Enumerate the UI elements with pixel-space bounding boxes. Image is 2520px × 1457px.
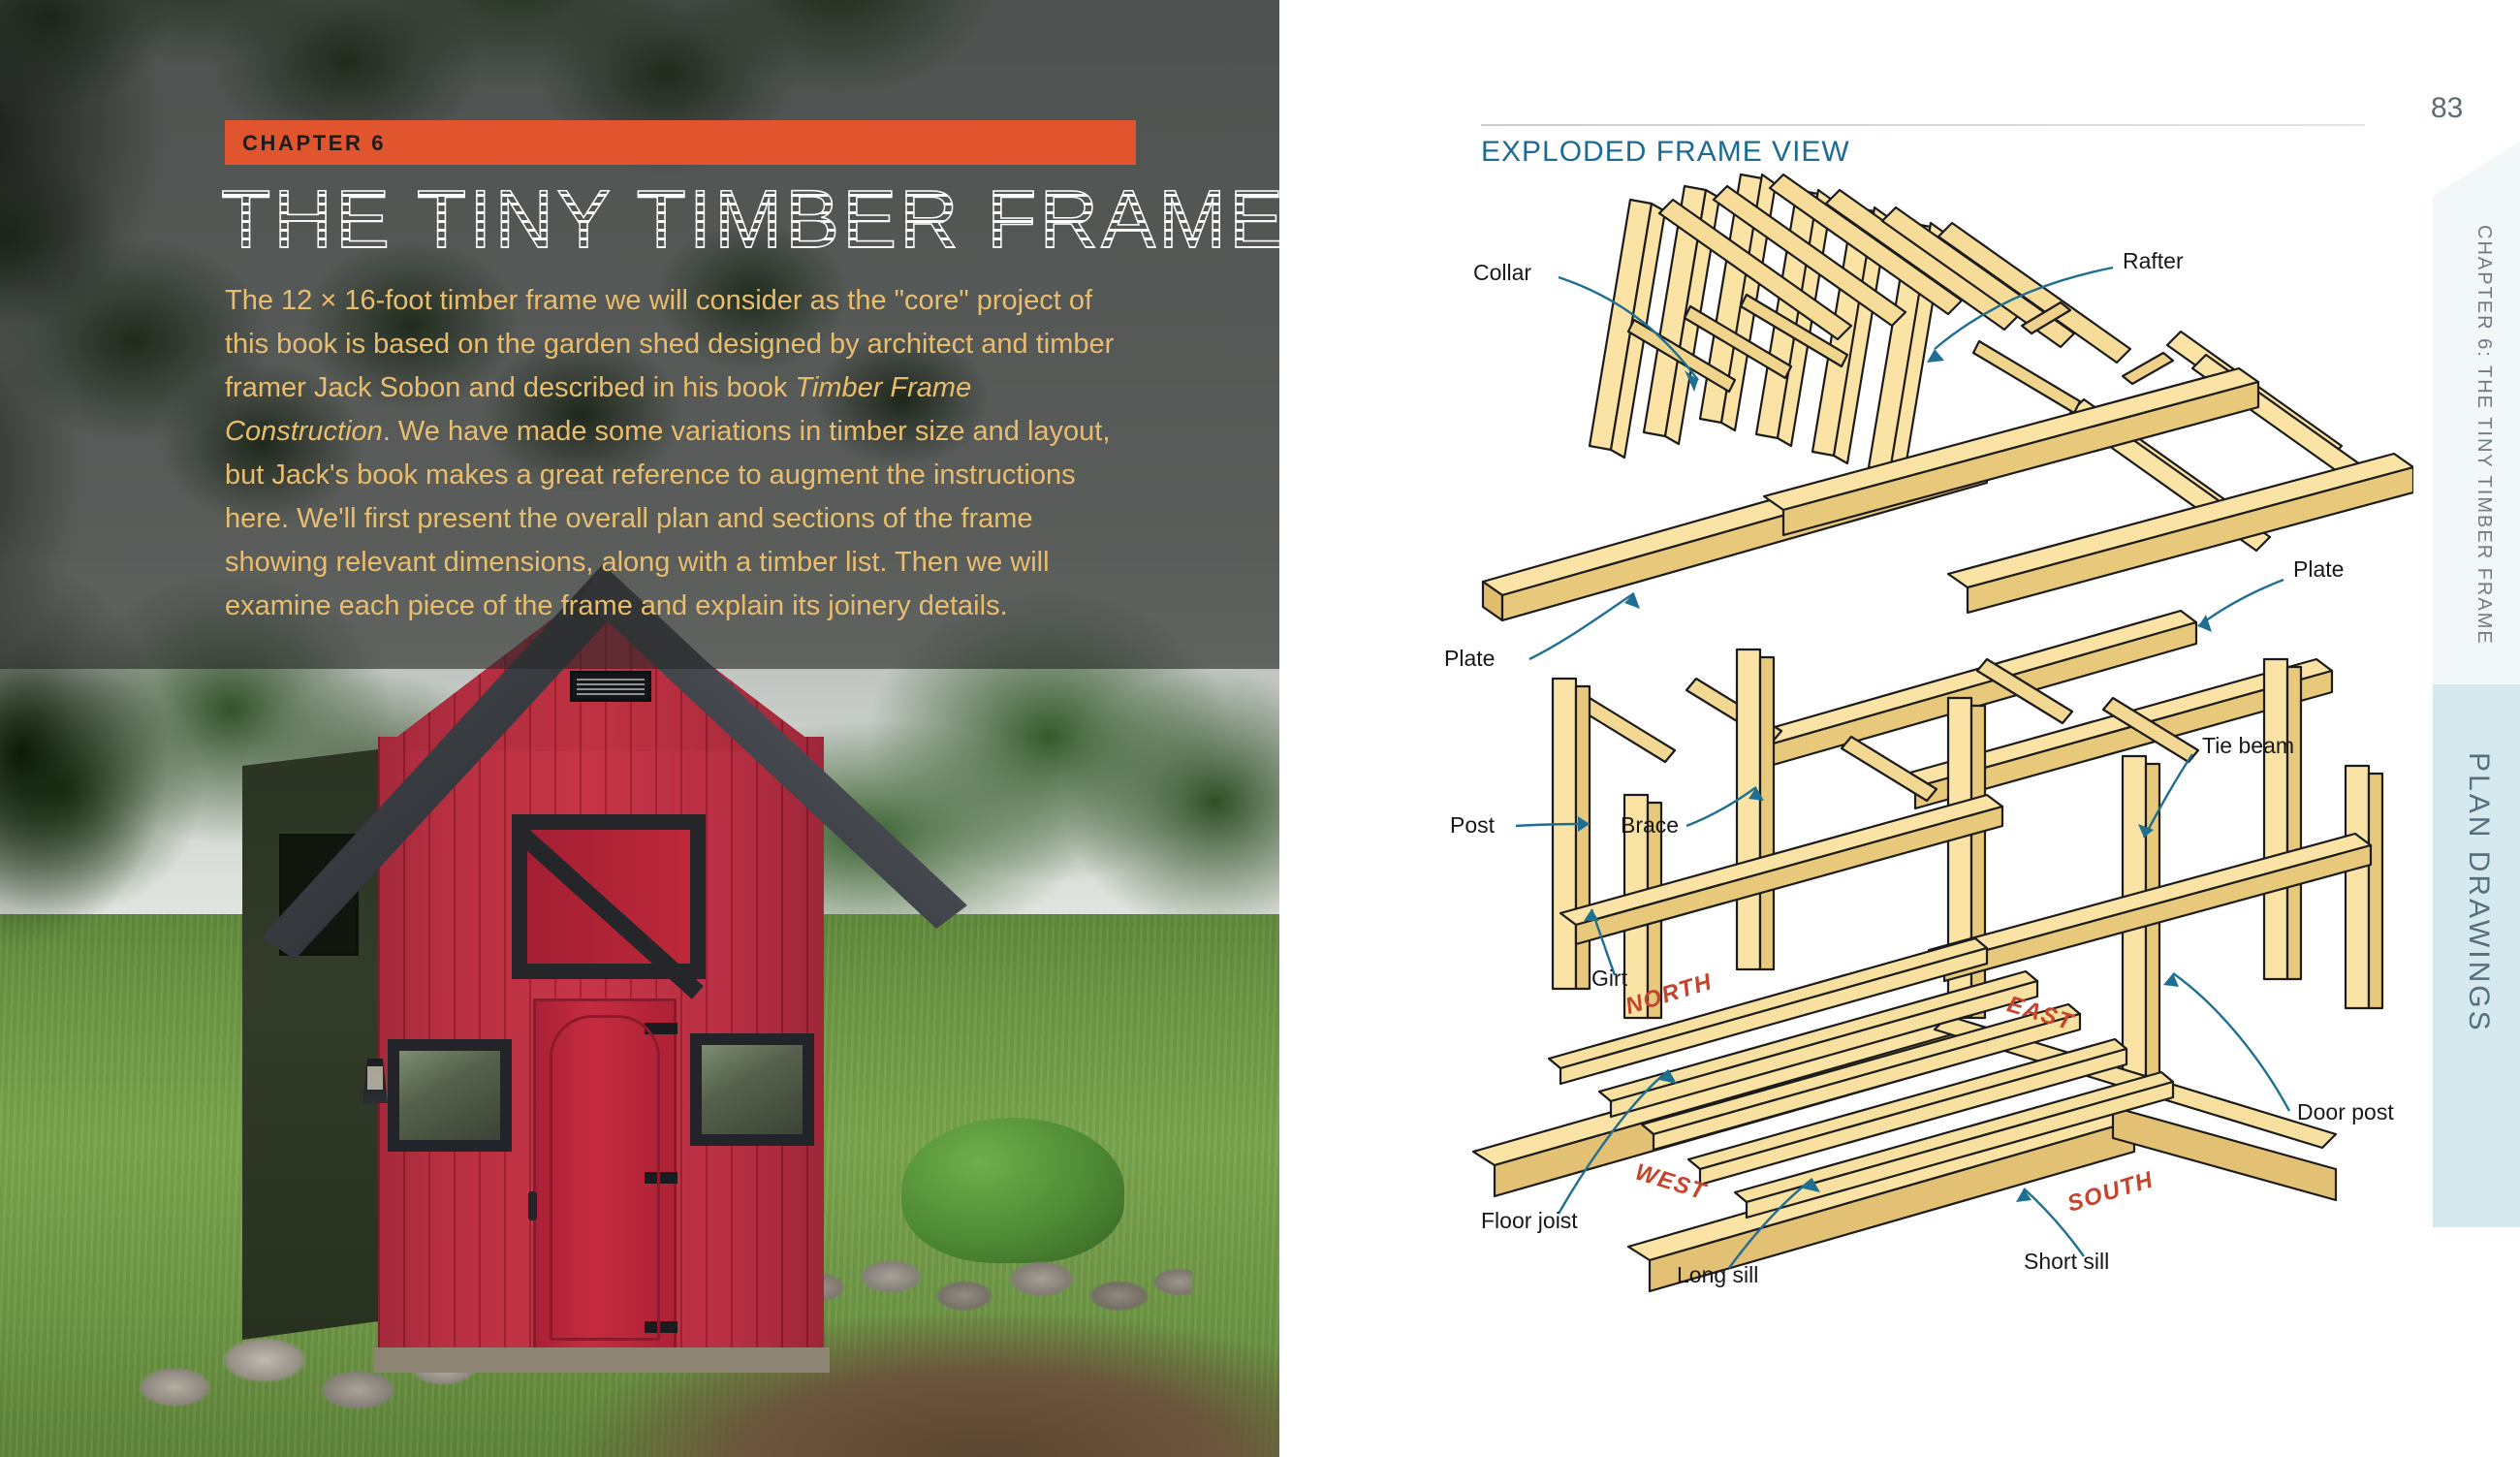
door-hinge: [645, 1023, 677, 1034]
compass-north: NORTH: [1622, 968, 1717, 1021]
header-rule: [1481, 124, 2365, 126]
door-hinge: [645, 1172, 677, 1184]
door-handle: [528, 1191, 537, 1220]
hayloft-door: [512, 814, 706, 979]
label-tie-beam: Tie beam: [2202, 733, 2294, 759]
door-hinge: [645, 1321, 677, 1333]
shed-door: [533, 998, 677, 1357]
page-title: THE TINY TIMBER FRAME: [221, 173, 1279, 267]
compass-south: SOUTH: [2064, 1166, 2158, 1219]
label-rafter: Rafter: [2123, 248, 2184, 274]
shed-window-left: [388, 1039, 512, 1152]
compass-east: EAST: [2003, 991, 2076, 1036]
tab-plan-drawings-label: PLAN DRAWINGS: [2462, 752, 2495, 1033]
left-page: CHAPTER 6 THE TINY TIMBER FRAME The 12 ×…: [0, 0, 1279, 1457]
label-floor-joist: Floor joist: [1481, 1208, 1578, 1234]
shed-window-right: [690, 1033, 814, 1146]
chapter-label: CHAPTER 6: [242, 131, 386, 156]
shed-foundation: [374, 1347, 830, 1373]
label-door-post: Door post: [2297, 1099, 2394, 1125]
intro-text-part1: The 12 × 16-foot timber frame we will co…: [225, 285, 1114, 403]
label-long-sill: Long sill: [1677, 1262, 1758, 1288]
label-short-sill: Short sill: [2024, 1249, 2109, 1275]
label-girt: Girt: [1591, 966, 1627, 992]
label-collar: Collar: [1473, 260, 1531, 286]
exploded-frame-diagram: Collar Rafter Plate Plate Post Brace Tie…: [1444, 155, 2413, 1377]
chapter-intro-paragraph: The 12 × 16-foot timber frame we will co…: [225, 279, 1136, 628]
page-number: 83: [2431, 92, 2463, 125]
frame-illustration: [1444, 155, 2413, 1377]
tab-chapter-label: CHAPTER 6: THE TINY TIMBER FRAME: [2473, 225, 2495, 646]
label-brace: Brace: [1621, 812, 1679, 839]
compass-west: WEST: [1632, 1159, 1710, 1207]
chapter-label-bar: CHAPTER 6: [225, 120, 1136, 165]
label-plate-left: Plate: [1444, 646, 1495, 672]
label-post: Post: [1450, 812, 1495, 839]
label-plate-right: Plate: [2293, 556, 2344, 583]
book-spread: CHAPTER 6 THE TINY TIMBER FRAME The 12 ×…: [0, 0, 2520, 1457]
gable-vent: [570, 671, 651, 702]
